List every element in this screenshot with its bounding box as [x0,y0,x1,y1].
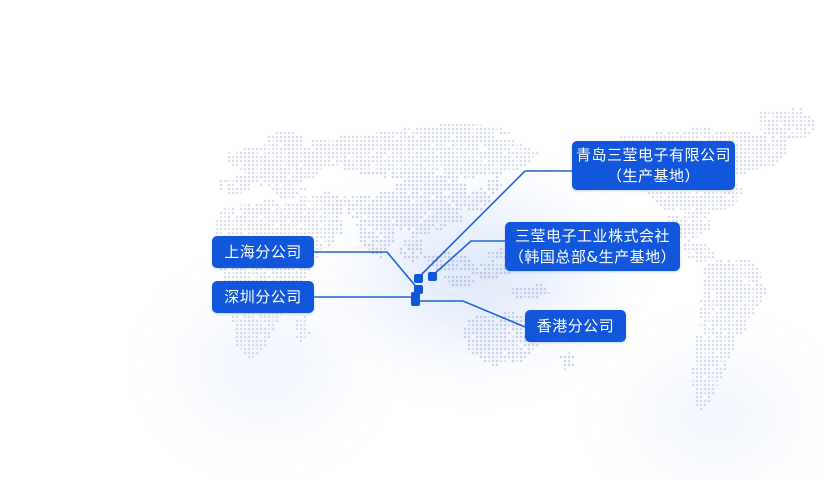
label-shanghai-text: 上海分公司 [224,242,302,262]
label-qingdao[interactable]: 青岛三莹电子有限公司 （生产基地） [572,141,735,190]
label-shenzhen[interactable]: 深圳分公司 [212,281,314,313]
label-korea-line2: （韩国总部&生产基地） [509,247,676,267]
link-shanghai [314,252,418,289]
label-hongkong-text: 香港分公司 [537,316,615,336]
map-stage: 青岛三莹电子有限公司 （生产基地） 三莹电子工业株式会社 （韩国总部&生产基地）… [0,0,824,480]
label-qingdao-line1: 青岛三莹电子有限公司 [576,145,731,165]
label-korea-hq[interactable]: 三莹电子工业株式会社 （韩国总部&生产基地） [505,222,680,271]
node-qingdao[interactable] [414,274,423,283]
label-qingdao-line2: （生产基地） [607,166,700,186]
link-korea [432,241,505,276]
label-shenzhen-text: 深圳分公司 [224,287,302,307]
label-shanghai[interactable]: 上海分公司 [212,236,314,268]
node-korea[interactable] [428,272,437,281]
node-hongkong[interactable] [411,297,420,306]
link-hongkong [415,301,525,327]
label-korea-line1: 三莹电子工业株式会社 [515,226,670,246]
connector-lines [0,0,824,480]
label-hongkong[interactable]: 香港分公司 [525,310,626,342]
